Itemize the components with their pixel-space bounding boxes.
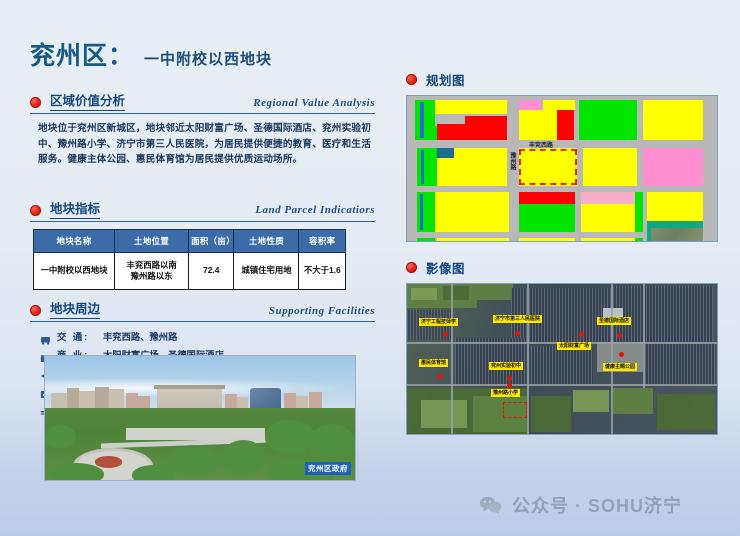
map-river	[421, 150, 424, 184]
satellite-farmland	[531, 396, 571, 432]
facility-value: 丰兖西路、豫州路	[103, 329, 177, 343]
footer: 公众号 · SOHU济宁	[479, 492, 682, 518]
map-block-water	[437, 148, 454, 158]
map-marker-dot	[619, 352, 624, 357]
section-title-indicators: 地块指标	[50, 202, 100, 219]
bullet-icon	[30, 205, 41, 216]
photo-trees	[48, 463, 104, 481]
section-header-indicators: 地块指标 Land Parcel Indicatiors	[30, 202, 375, 222]
map-block-residential	[435, 100, 507, 114]
photo-trees	[45, 425, 76, 447]
satellite-road	[451, 284, 453, 434]
satellite-road	[527, 284, 529, 434]
map-block-pink	[581, 192, 635, 204]
map-block-green	[635, 192, 643, 232]
planning-map[interactable]: 丰兖西路 豫州路	[406, 95, 718, 242]
page-title: 兖州区： 一中附校以西地块	[30, 36, 375, 72]
cell-name: 一中附校以西地块	[34, 252, 115, 290]
map-tag[interactable]: 健康主题公园	[603, 363, 637, 371]
section-subtitle-regional: Regional Value Analysis	[253, 97, 375, 109]
map-block-green	[417, 148, 437, 186]
road-label-horizontal: 丰兖西路	[529, 140, 553, 149]
target-parcel-outline	[519, 149, 577, 185]
road-label-vertical: 豫州路	[508, 152, 517, 170]
cell-area: 72.4	[189, 252, 234, 290]
bullet-icon	[30, 305, 41, 316]
photo-trees	[132, 465, 175, 481]
slide-page: 兖州区： 一中附校以西地块 区域价值分析 Regional Value Anal…	[0, 0, 740, 536]
right-column: 规划图	[406, 70, 716, 435]
map-marker-dot	[515, 331, 520, 336]
map-tag[interactable]: 惠民体育馆	[419, 359, 448, 367]
cell-type: 城镇住宅用地	[234, 252, 299, 290]
map-tag[interactable]: 济宁市第三人民医院	[493, 315, 542, 323]
title-parcel-name: 一中附校以西地块	[144, 48, 272, 69]
section-header-facilities: 地块周边 Supporting Facilities	[30, 302, 375, 322]
satellite-farmland	[573, 390, 609, 412]
facility-key: 交 通:	[57, 329, 97, 343]
map-marker-dot	[507, 383, 512, 388]
map-block-green	[519, 204, 575, 232]
map-block-green	[635, 238, 643, 242]
wechat-icon	[479, 496, 503, 514]
section-title-regional: 区域价值分析	[50, 94, 125, 111]
map-river	[420, 102, 424, 138]
satellite-farmland	[421, 400, 467, 428]
transit-icon	[40, 332, 51, 341]
map-tag[interactable]: 豫州路小学	[491, 389, 520, 397]
satellite-urban-block	[613, 286, 713, 342]
parcel-indicator-table: 地块名称 土地位置 面积（亩） 土地性质 容积率 一中附校以西地块 丰兖西路以南…	[33, 229, 346, 291]
satellite-map[interactable]: 济宁工程技师学 济宁市第三人民医院 圣德国际酒店 太阳财富广场 惠民体育馆 健康…	[406, 283, 718, 435]
cell-far: 不大于1.6	[299, 252, 346, 290]
map-block-pink	[519, 100, 541, 110]
title-district: 兖州区：	[30, 36, 134, 72]
map-block-residential	[437, 238, 509, 242]
map-block-residential	[583, 148, 637, 186]
map-tag[interactable]: 圣德国际酒店	[597, 317, 631, 325]
list-item: 交 通: 丰兖西路、豫州路	[40, 329, 375, 343]
col-header-location: 土地位置	[115, 229, 189, 252]
map-marker-dot	[507, 376, 512, 381]
map-block-residential	[543, 100, 575, 110]
section-title-facilities: 地块周边	[50, 302, 100, 319]
footer-text: 公众号 · SOHU济宁	[512, 492, 682, 518]
map-tag[interactable]: 兖州实验初中	[489, 362, 523, 370]
cell-location: 丰兖西路以南 豫州路以东	[115, 252, 189, 290]
table-header-row: 地块名称 土地位置 面积（亩） 土地性质 容积率	[34, 229, 346, 252]
map-block-residential	[581, 238, 635, 242]
bullet-icon	[406, 262, 417, 273]
photo-roundabout-center	[95, 456, 123, 467]
satellite-road	[643, 284, 645, 388]
satellite-urban-block	[531, 346, 593, 386]
regional-paragraph: 地块位于兖州区新城区，地块邻近太阳财富广场、圣德国际酒店、兖州实验初中、豫州路小…	[38, 121, 375, 168]
map-block-residential	[581, 204, 635, 232]
section-subtitle-facilities: Supporting Facilities	[269, 305, 375, 317]
map-block-residential	[519, 238, 575, 242]
satellite-farmland	[477, 284, 513, 300]
photo-caption: 兖州区政府	[305, 462, 351, 475]
map-tag[interactable]: 济宁工程技师学	[419, 318, 458, 326]
photo-trees	[222, 440, 265, 475]
map-marker-dot	[617, 333, 622, 338]
col-header-area: 面积（亩）	[189, 229, 234, 252]
map-satellite-inset	[651, 228, 703, 242]
col-header-far: 容积率	[299, 229, 346, 252]
satellite-target-parcel-outline	[503, 402, 527, 418]
section-title-planning: 规划图	[426, 70, 465, 89]
section-header-regional: 区域价值分析 Regional Value Analysis	[30, 94, 375, 114]
table-row: 一中附校以西地块 丰兖西路以南 豫州路以东 72.4 城镇住宅用地 不大于1.6	[34, 252, 346, 290]
map-block-commercial	[557, 110, 574, 140]
map-marker-dot	[443, 332, 448, 337]
map-tag[interactable]: 太阳财富广场	[557, 342, 591, 350]
satellite-urban-block	[645, 344, 715, 386]
satellite-farmland	[443, 286, 469, 300]
satellite-road	[611, 284, 613, 434]
map-marker-dot	[579, 332, 584, 337]
photo-trees	[309, 424, 356, 461]
section-header-planning: 规划图	[406, 70, 716, 89]
photo-trees	[169, 445, 219, 475]
district-photo: 兖州区政府	[44, 355, 356, 481]
map-block-pink	[643, 148, 703, 186]
map-block-gray	[435, 114, 465, 124]
section-header-imagery: 影像图	[406, 258, 716, 277]
col-header-type: 土地性质	[234, 229, 299, 252]
map-block-green	[579, 100, 637, 140]
section-title-imagery: 影像图	[426, 258, 465, 277]
satellite-farmland	[411, 288, 437, 300]
photo-gov-roof	[154, 385, 225, 389]
bullet-icon	[30, 97, 41, 108]
map-block-residential	[519, 110, 559, 140]
map-block-commercial	[519, 192, 575, 204]
map-block-green	[417, 238, 435, 242]
map-marker-dot	[437, 374, 442, 379]
photo-trees	[265, 420, 315, 452]
bullet-icon	[406, 74, 417, 85]
section-subtitle-indicators: Land Parcel Indicatiors	[255, 204, 375, 216]
satellite-road	[407, 384, 717, 386]
map-block-residential	[643, 100, 703, 140]
satellite-farmland	[613, 388, 653, 414]
map-river	[420, 194, 423, 230]
satellite-farmland	[657, 394, 715, 430]
col-header-name: 地块名称	[34, 229, 115, 252]
map-block-residential	[435, 192, 509, 232]
